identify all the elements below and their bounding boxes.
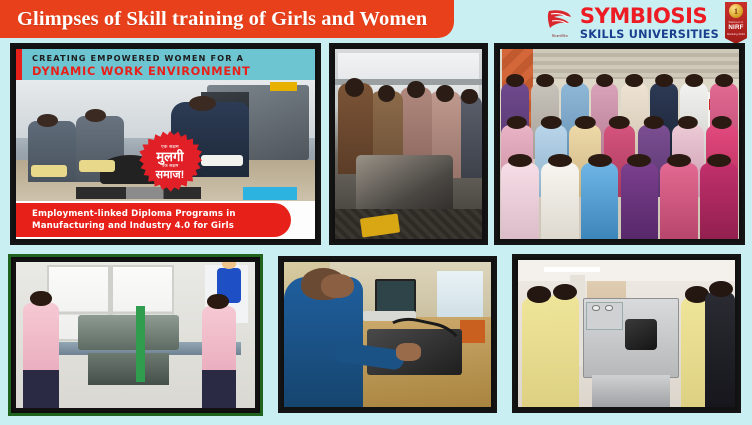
green-hose bbox=[136, 306, 146, 382]
seal-line-3: एक सक्षम bbox=[162, 164, 179, 169]
seal-text: एक सक्षम मुलगी एक सक्षम समाज! bbox=[138, 131, 202, 195]
workshop-scene bbox=[335, 49, 482, 239]
engine-cutaway bbox=[625, 319, 657, 350]
person-head bbox=[655, 74, 673, 87]
lathe-lab-scene bbox=[16, 262, 255, 408]
student-4-body bbox=[705, 292, 735, 407]
orange-device bbox=[460, 320, 485, 343]
person-head bbox=[707, 154, 731, 167]
page-title: Glimpses of Skill training of Girls and … bbox=[0, 8, 427, 31]
photo-frame bbox=[8, 254, 263, 416]
student-right-bottom bbox=[202, 370, 235, 408]
person-body bbox=[660, 163, 698, 239]
student-left-head bbox=[30, 291, 52, 306]
women-group-photo bbox=[494, 43, 745, 245]
electronics-lab-training-photo bbox=[278, 256, 497, 413]
panel-dial bbox=[592, 305, 600, 310]
photo-inner: CREATING EMPOWERED WOMEN FOR A DYNAMIC W… bbox=[16, 49, 315, 239]
group-photo-scene bbox=[500, 49, 739, 239]
student-left-bottom bbox=[23, 370, 59, 408]
seal-line-4: समाज! bbox=[156, 170, 185, 181]
symbiosis-serpent-logo-icon: सिम्बायोसिस bbox=[546, 8, 574, 38]
photo-inner bbox=[500, 49, 739, 239]
photo-frame bbox=[278, 256, 497, 413]
machine-light bbox=[270, 82, 297, 90]
nirf-rank-number: 1 bbox=[729, 4, 743, 18]
student-4-head bbox=[709, 281, 733, 297]
group-front-row bbox=[500, 163, 739, 239]
instrumentation-lab-scene bbox=[518, 260, 735, 407]
photo-inner bbox=[284, 262, 491, 407]
person-head bbox=[715, 74, 733, 87]
trainee-glove-1 bbox=[31, 165, 67, 177]
nirf-line-2: NIRF bbox=[728, 24, 743, 31]
photo-frame bbox=[329, 43, 488, 245]
photo-frame bbox=[494, 43, 745, 245]
photo-frame bbox=[512, 254, 741, 413]
automotive-workshop-training-photo bbox=[329, 43, 488, 245]
poster-footer-line2: Manufacturing and Industry 4.0 for Girls bbox=[32, 220, 291, 232]
student-head-3 bbox=[407, 81, 425, 98]
student-right-head bbox=[207, 294, 229, 309]
brand-name: SYMBIOSIS bbox=[580, 6, 719, 27]
lathe-machine-training-photo bbox=[8, 254, 263, 416]
person-head bbox=[566, 74, 584, 87]
trainer-glove bbox=[201, 155, 243, 166]
brand-subtitle: SKILLS UNIVERSITIES bbox=[580, 29, 719, 40]
training-rig bbox=[583, 298, 678, 377]
logo-devanagari-caption: सिम्बायोसिस bbox=[552, 33, 568, 38]
person-body bbox=[700, 163, 738, 239]
student-face bbox=[321, 274, 354, 299]
poster-footer-band: Employment-linked Diploma Programs in Ma… bbox=[16, 203, 291, 237]
lathe-base bbox=[88, 353, 169, 385]
person-head bbox=[667, 154, 691, 167]
poster-headline-line1: CREATING EMPOWERED WOMEN FOR A bbox=[32, 53, 315, 63]
seal-line-2: मुलगी bbox=[156, 150, 183, 163]
person-head bbox=[626, 74, 644, 87]
trainee-glove-2 bbox=[79, 160, 115, 172]
lab-window bbox=[437, 271, 483, 320]
electronics-lab-scene bbox=[284, 262, 491, 407]
empowered-women-poster: CREATING EMPOWERED WOMEN FOR A DYNAMIC W… bbox=[10, 43, 321, 245]
trainee-head-1 bbox=[37, 114, 58, 127]
photo-frame: CREATING EMPOWERED WOMEN FOR A DYNAMIC W… bbox=[10, 43, 321, 245]
person-head bbox=[596, 74, 614, 87]
person-head bbox=[627, 154, 651, 167]
poster-footer-line1: Employment-linked Diploma Programs in bbox=[32, 208, 291, 220]
instructor-head bbox=[345, 78, 364, 97]
student-2-head bbox=[553, 284, 577, 300]
blue-tray bbox=[243, 187, 297, 200]
brand-wordmark: SYMBIOSIS SKILLS UNIVERSITIES bbox=[580, 6, 719, 40]
person-head bbox=[536, 74, 554, 87]
poster-headline-band: CREATING EMPOWERED WOMEN FOR A DYNAMIC W… bbox=[16, 49, 315, 80]
photo-inner bbox=[335, 49, 482, 239]
person-head bbox=[588, 154, 612, 167]
lathe-head bbox=[78, 315, 178, 350]
title-banner: Glimpses of Skill training of Girls and … bbox=[0, 0, 454, 38]
photo-inner bbox=[16, 262, 255, 408]
ceiling-light bbox=[544, 267, 600, 271]
person-body bbox=[501, 163, 539, 239]
nirf-line-3: Ranking 2024 bbox=[727, 32, 745, 36]
panel-dial bbox=[605, 305, 613, 310]
person-body bbox=[581, 163, 619, 239]
person-head bbox=[685, 74, 703, 87]
nirf-ranking-badge-icon: 1 Ranked in NIRF Ranking 2024 bbox=[725, 2, 747, 44]
student-hand bbox=[396, 343, 421, 360]
student-2-body bbox=[548, 295, 578, 407]
person-head bbox=[506, 74, 524, 87]
poster-headline-line2: DYNAMIC WORK ENVIRONMENT bbox=[32, 64, 315, 78]
photo-inner bbox=[518, 260, 735, 407]
trainee-head-2 bbox=[85, 109, 106, 122]
person-body bbox=[621, 163, 659, 239]
brand-lockup: सिम्बायोसिस SYMBIOSIS SKILLS UNIVERSITIE… bbox=[546, 2, 747, 44]
person-body bbox=[541, 163, 579, 239]
person-head bbox=[548, 154, 572, 167]
instrumentation-lab-students-photo bbox=[512, 254, 741, 413]
poster-artwork: CREATING EMPOWERED WOMEN FOR A DYNAMIC W… bbox=[16, 49, 315, 239]
person-head bbox=[508, 154, 532, 167]
ek-saksham-mulgi-seal: एक सक्षम मुलगी एक सक्षम समाज! bbox=[138, 131, 202, 195]
workshop-floor bbox=[335, 209, 482, 239]
rig-stand bbox=[592, 375, 670, 407]
student-1-head bbox=[527, 286, 551, 302]
student-head-5 bbox=[461, 89, 477, 104]
slide-header: Glimpses of Skill training of Girls and … bbox=[0, 0, 752, 46]
